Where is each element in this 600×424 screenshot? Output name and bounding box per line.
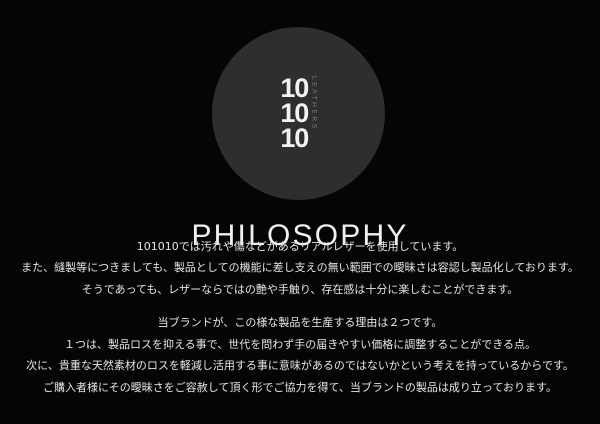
- brand-logo: 10 10 10 LEATHERS: [212, 27, 385, 200]
- philosophy-paragraph-1: 101010では汚れや傷などがあるリアルレザーを使用しています。 また、縫製等に…: [0, 236, 600, 300]
- copy-line: １つは、製品ロスを抑える事で、世代を問わず手の届きやすい価格に調整することができ…: [0, 334, 600, 355]
- philosophy-body: 101010では汚れや傷などがあるリアルレザーを使用しています。 また、縫製等に…: [0, 236, 600, 398]
- copy-line: ご購入者様にその曖昧さをご容赦して頂く形でご協力を得て、当ブランドの製品は成り立…: [0, 377, 600, 398]
- logo-vertical-wordmark: LEATHERS: [310, 76, 317, 152]
- logo-number-stack: 10 10 10: [280, 76, 308, 150]
- logo-lockup: 10 10 10 LEATHERS: [280, 75, 316, 152]
- philosophy-page: 10 10 10 LEATHERS PHILOSOPHY 101010では汚れや…: [0, 0, 600, 424]
- copy-line: 当ブランドが、この様な製品を生産する理由は２つです。: [0, 312, 600, 333]
- philosophy-paragraph-2: 当ブランドが、この様な製品を生産する理由は２つです。 １つは、製品ロスを抑える事…: [0, 312, 600, 398]
- copy-line: そうであっても、レザーならではの艶や手触り、存在感は十分に楽しむことができます。: [0, 279, 600, 300]
- copy-line: また、縫製等につきましても、製品としての機能に差し支えの無い範囲での曖昧さは容認…: [0, 257, 600, 278]
- copy-line: 次に、貴重な天然素材のロスを軽減し活用する事に意味があるのではないかという考えを…: [0, 355, 600, 376]
- copy-line: 101010では汚れや傷などがあるリアルレザーを使用しています。: [0, 236, 600, 257]
- logo-content: 10 10 10 LEATHERS: [212, 27, 385, 200]
- logo-number-3: 10: [280, 126, 308, 151]
